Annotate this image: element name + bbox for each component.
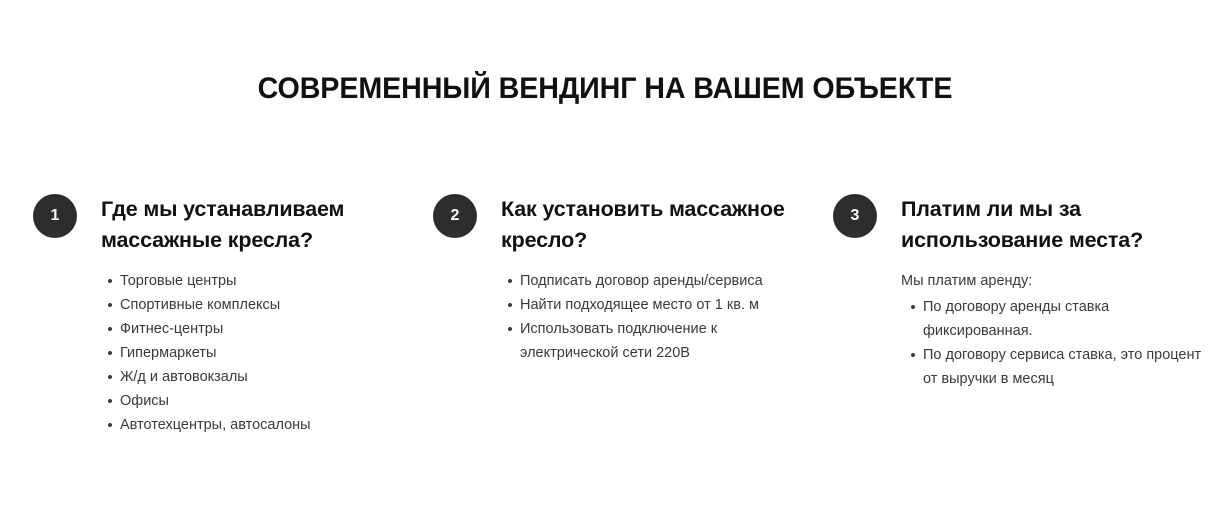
column-body-3: Мы платим аренду: По договору аренды ста…: [833, 269, 1210, 391]
column-body-2: Подписать договор аренды/сервиса Найти п…: [433, 269, 813, 365]
list-item: Торговые центры: [108, 269, 413, 293]
list-item: Автотехцентры, автосалоны: [108, 413, 413, 437]
feature-columns: 1 Где мы устанавливаем массажные кресла?…: [0, 194, 1210, 494]
feature-column-3: 3 Платим ли мы за использование места? М…: [833, 194, 1210, 391]
page-title: СОВРЕМЕННЫЙ ВЕНДИНГ НА ВАШЕМ ОБЪЕКТЕ: [27, 72, 1183, 106]
bullet-list-1: Торговые центры Спортивные комплексы Фит…: [101, 269, 413, 437]
step-number-badge-3: 3: [833, 194, 877, 238]
column-intro-text-3: Мы платим аренду:: [901, 269, 1210, 293]
list-item: Использовать подключение к электрической…: [508, 317, 813, 365]
bullet-list-3: По договору аренды ставка фиксированная.…: [901, 295, 1210, 391]
bullet-list-2: Подписать договор аренды/сервиса Найти п…: [501, 269, 813, 365]
list-item: Подписать договор аренды/сервиса: [508, 269, 813, 293]
list-item: По договору аренды ставка фиксированная.: [911, 295, 1210, 343]
feature-column-1: 1 Где мы устанавливаем массажные кресла?…: [33, 194, 413, 437]
step-number-badge-1: 1: [33, 194, 77, 238]
feature-column-2: 2 Как установить массажное кресло? Подпи…: [433, 194, 813, 365]
list-item: По договору сервиса ставка, это процент …: [911, 343, 1210, 391]
list-item: Офисы: [108, 389, 413, 413]
step-number-badge-2: 2: [433, 194, 477, 238]
list-item: Гипермаркеты: [108, 341, 413, 365]
list-item: Найти подходящее место от 1 кв. м: [508, 293, 813, 317]
column-heading-3: Платим ли мы за использование места?: [833, 194, 1210, 256]
list-item: Фитнес-центры: [108, 317, 413, 341]
column-heading-2: Как установить массажное кресло?: [433, 194, 813, 256]
column-heading-1: Где мы устанавливаем массажные кресла?: [33, 194, 413, 256]
list-item: Спортивные комплексы: [108, 293, 413, 317]
list-item: Ж/д и автовокзалы: [108, 365, 413, 389]
column-body-1: Торговые центры Спортивные комплексы Фит…: [33, 269, 413, 437]
